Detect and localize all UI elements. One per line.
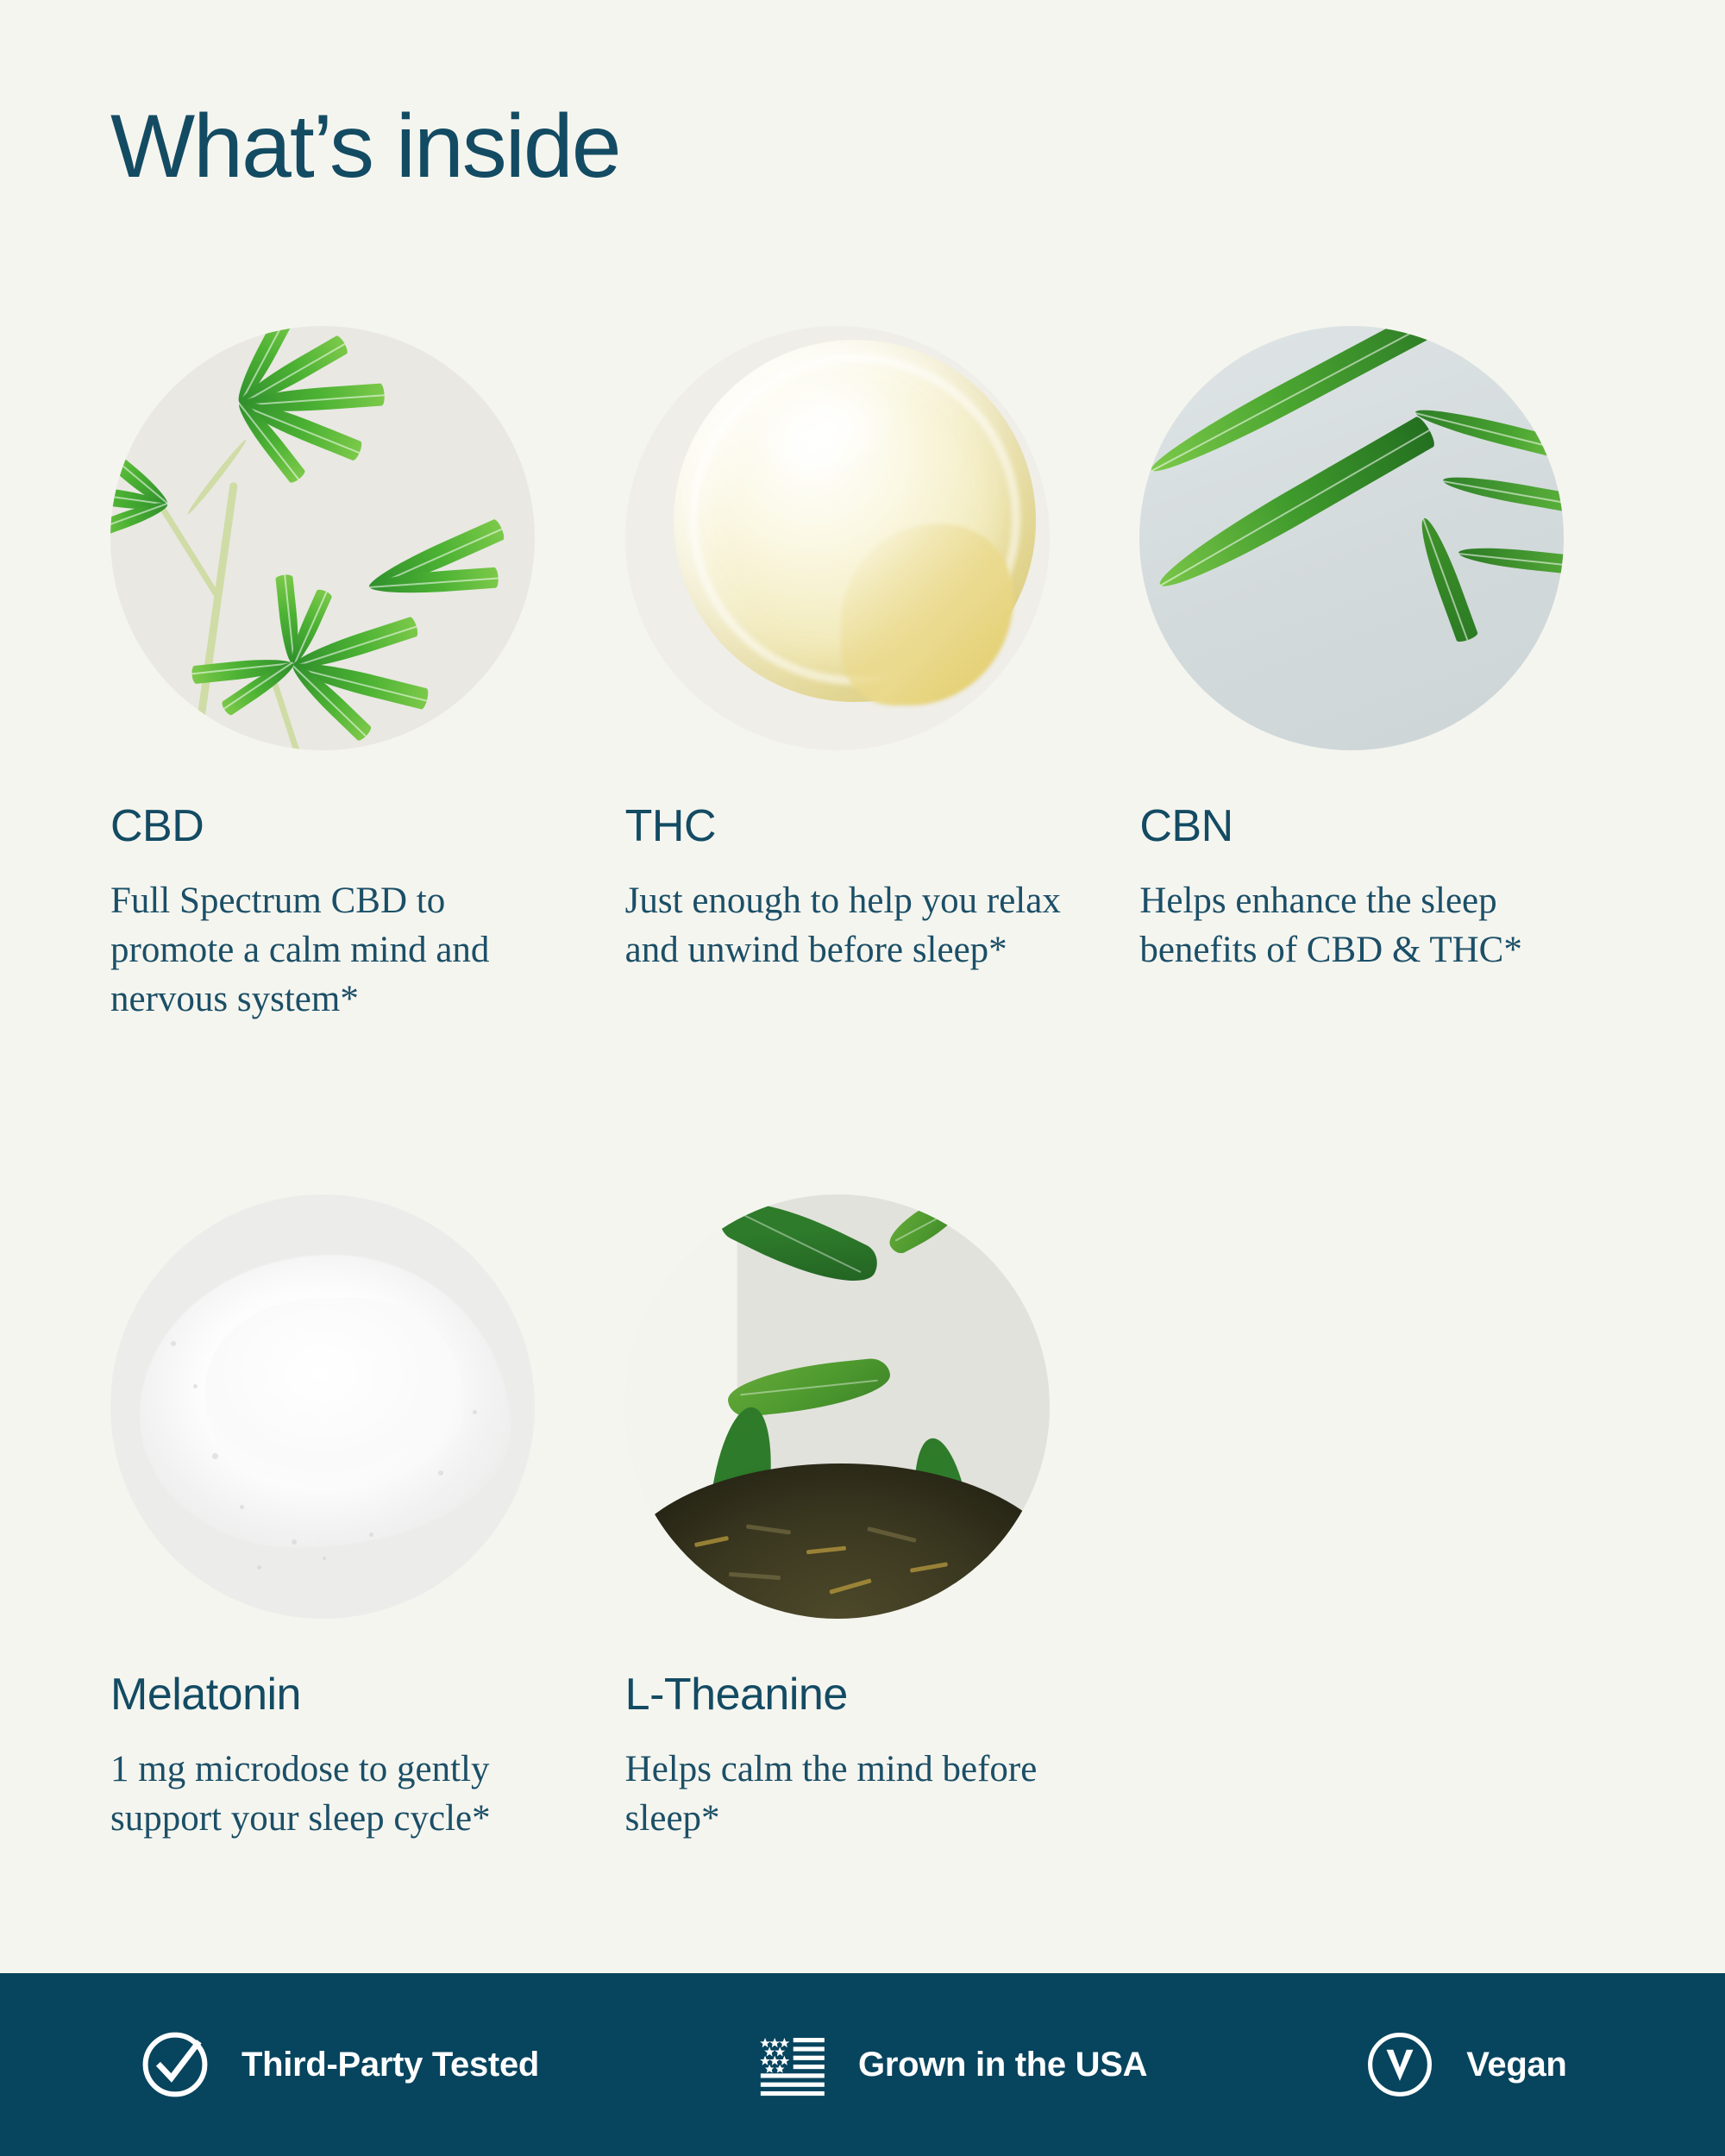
white-powder-photo <box>110 1194 535 1619</box>
ingredient-card-cbn[interactable]: CBN Helps enhance the sleep benefits of … <box>1139 326 1654 1025</box>
ingredient-card-empty <box>1139 1194 1654 1843</box>
ingredient-description: Just enough to help you relax and unwind… <box>625 876 1074 975</box>
ingredient-description: Full Spectrum CBD to promote a calm mind… <box>110 876 559 1025</box>
badge-vegan: Vegan <box>1363 2028 1566 2102</box>
ingredient-grid: CBD Full Spectrum CBD to promote a calm … <box>110 326 1654 1843</box>
ingredient-card-cbd[interactable]: CBD Full Spectrum CBD to promote a calm … <box>110 326 625 1025</box>
hemp-fronds-photo <box>1139 326 1564 750</box>
oil-droplet-photo <box>625 326 1050 750</box>
check-circle-icon <box>138 2028 212 2102</box>
ingredient-title: CBD <box>110 804 625 849</box>
ingredient-title: L-Theanine <box>625 1672 1140 1717</box>
ingredient-card-melatonin[interactable]: Melatonin 1 mg microdose to gently suppo… <box>110 1194 625 1843</box>
ingredient-row: CBD Full Spectrum CBD to promote a calm … <box>110 326 1654 1025</box>
ingredient-title: CBN <box>1139 804 1654 849</box>
ingredient-title: THC <box>625 804 1140 849</box>
trust-badges-bar: Third-Party Tested <box>0 1973 1725 2156</box>
ingredient-description: Helps calm the mind before sleep* <box>625 1745 1074 1843</box>
ingredient-card-l-theanine[interactable]: L-Theanine Helps calm the mind before sl… <box>625 1194 1140 1843</box>
vegan-v-circle-icon <box>1363 2028 1437 2102</box>
ingredient-card-thc[interactable]: THC Just enough to help you relax and un… <box>625 326 1140 1025</box>
badge-label: Third-Party Tested <box>241 2046 539 2084</box>
ingredient-description: Helps enhance the sleep benefits of CBD … <box>1139 876 1588 975</box>
hemp-leaves-photo <box>110 326 535 750</box>
usa-flag-icon <box>755 2028 829 2102</box>
badge-third-party-tested: Third-Party Tested <box>138 2028 539 2102</box>
ingredient-row: Melatonin 1 mg microdose to gently suppo… <box>110 1194 1654 1843</box>
tea-leaves-photo <box>625 1194 1050 1619</box>
badge-label: Vegan <box>1466 2046 1566 2084</box>
ingredient-title: Melatonin <box>110 1672 625 1717</box>
page-title: What’s inside <box>110 102 620 191</box>
badge-label: Grown in the USA <box>858 2046 1147 2084</box>
ingredient-description: 1 mg microdose to gently support your sl… <box>110 1745 559 1843</box>
badge-grown-in-usa: Grown in the USA <box>755 2028 1147 2102</box>
